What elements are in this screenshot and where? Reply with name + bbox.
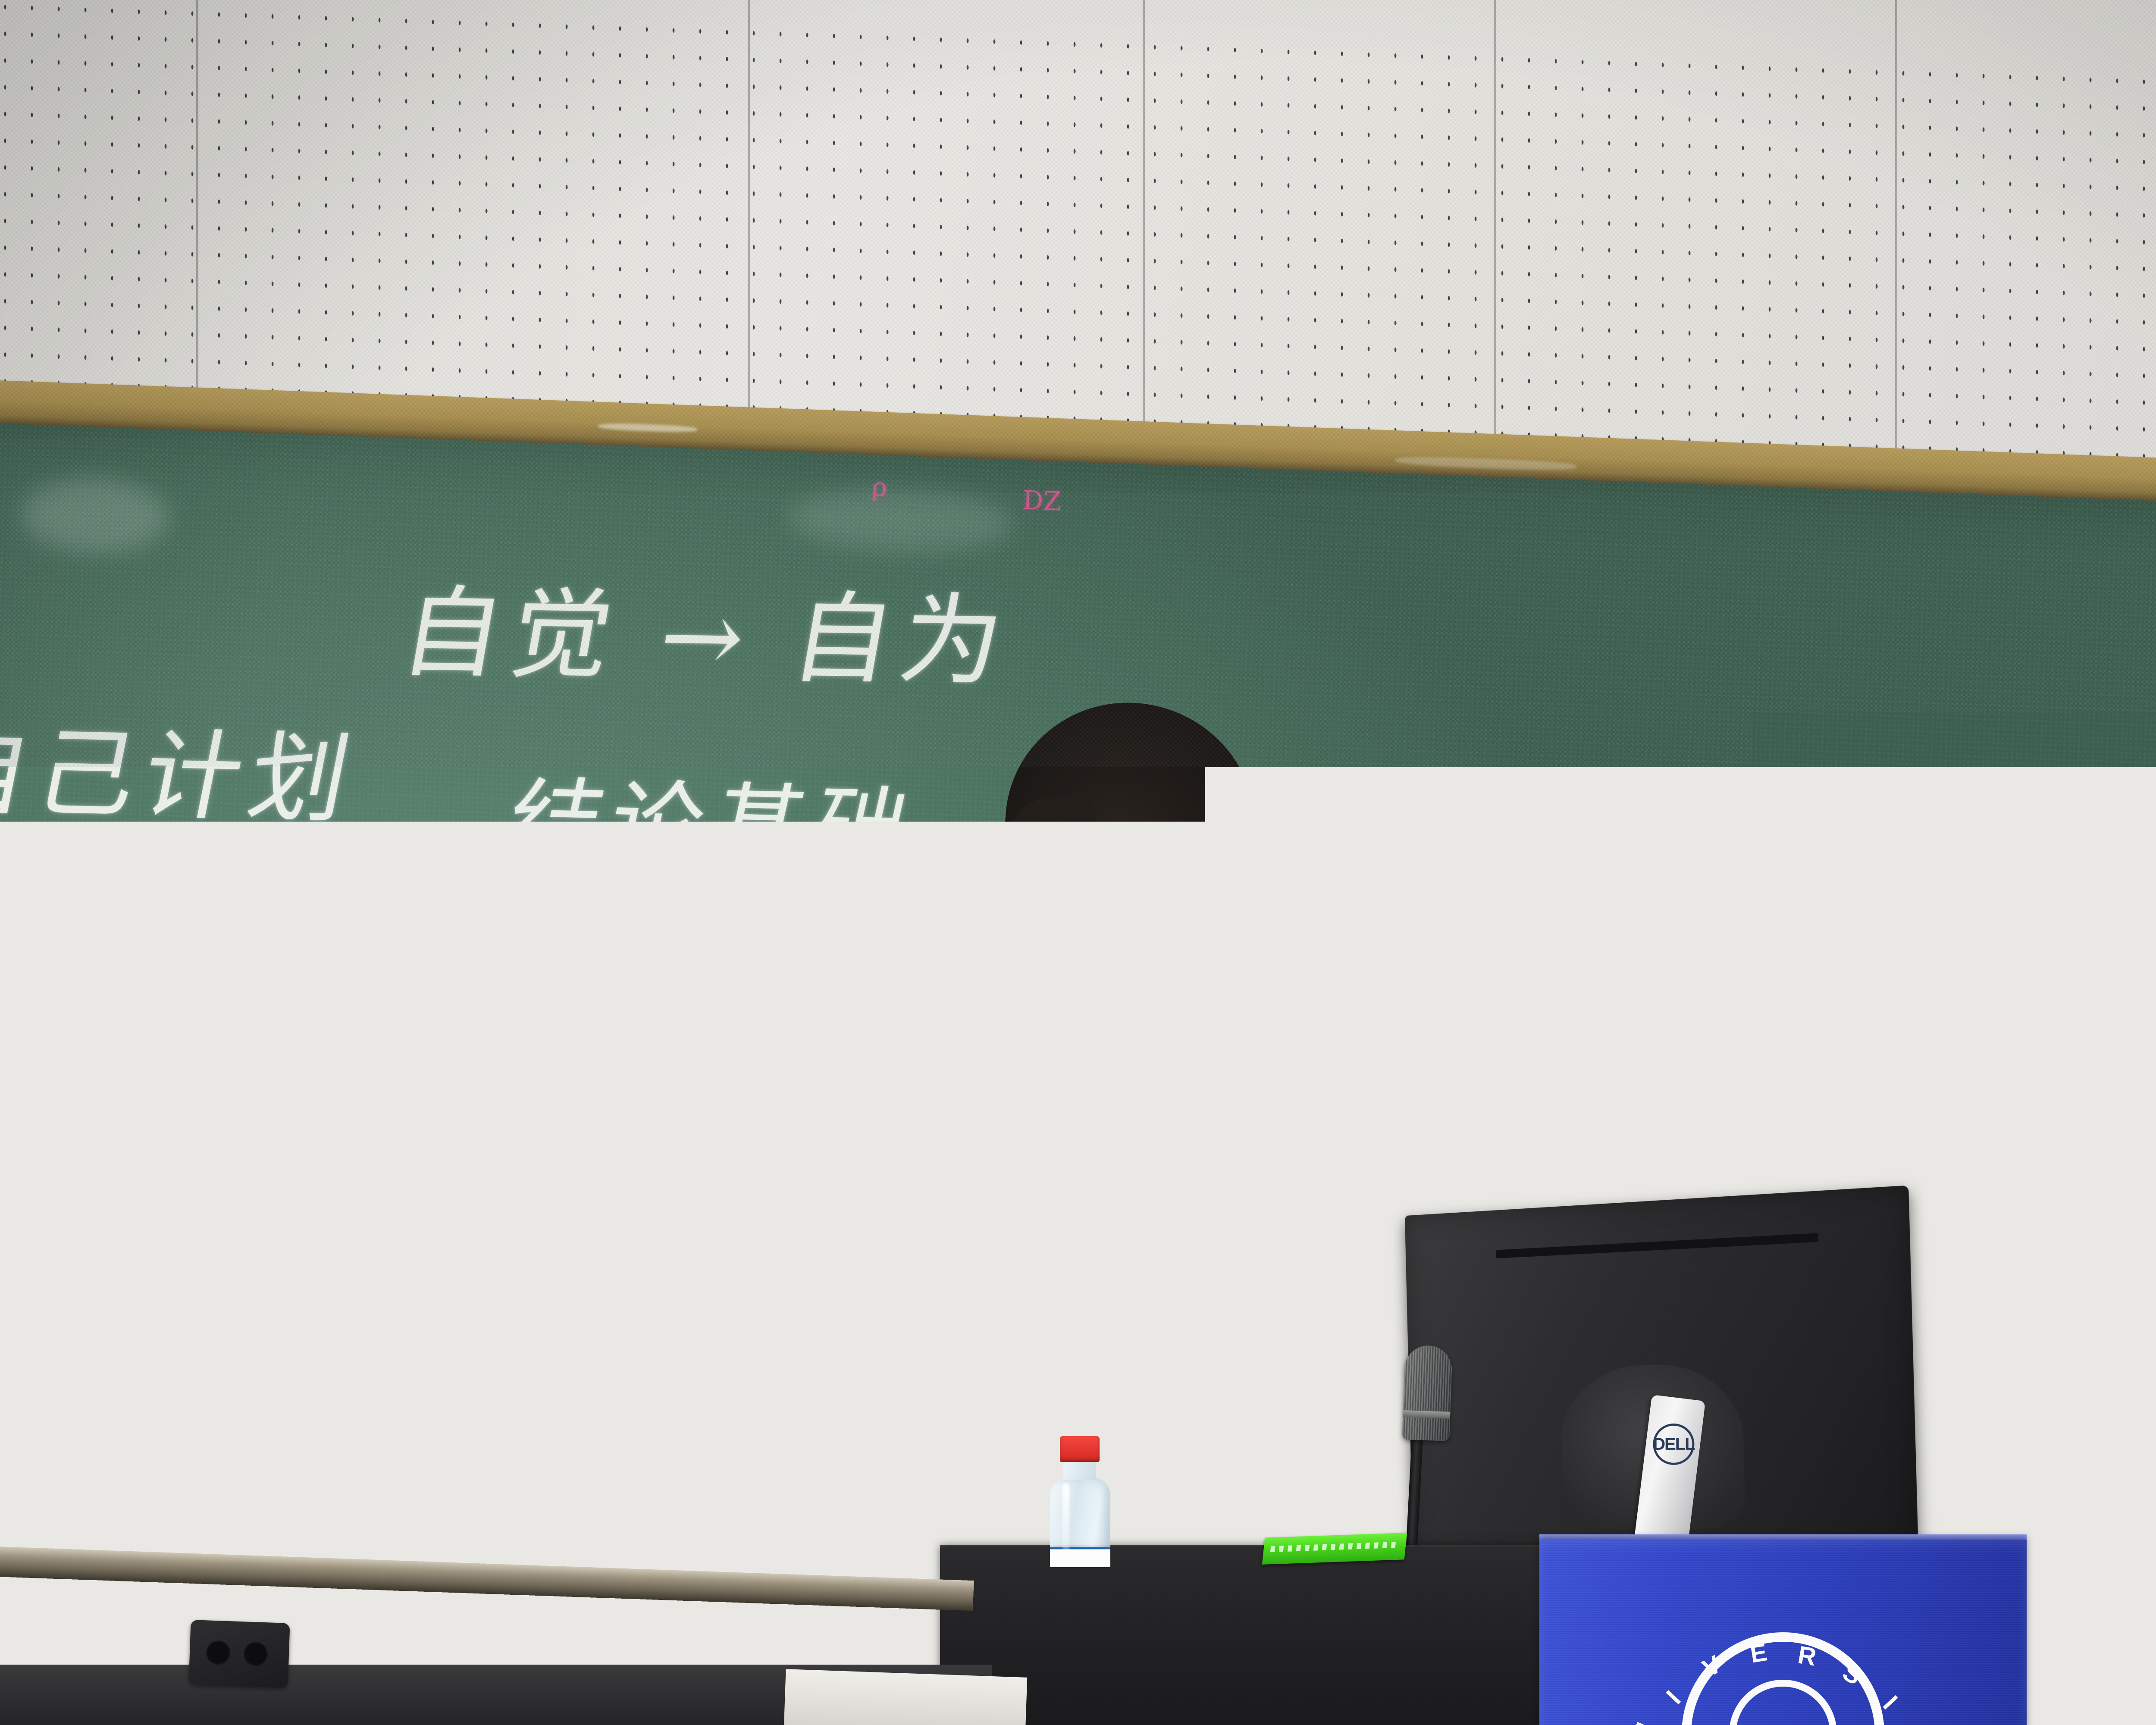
chalk-text-main: 自觉 → 自为 [392,553,1024,705]
lecture-hall-scene: 自己计划 自觉 → 自为 结论基础 ρ DZ 共青团 中国 是中国共 组织，是 … [0,0,2156,1725]
university-emblem-inner-ring [1729,1680,1837,1725]
vest-button [1172,1335,1190,1353]
vest-pocket-right [1305,1396,1416,1537]
water-bottle[interactable] [1048,1436,1112,1565]
dell-logo-icon: DELL [1653,1424,1694,1465]
pink-chalk-mark-1: ρ [871,472,888,503]
emblem-char: V [1698,1650,1726,1683]
wall-panel-seam [1895,0,1897,470]
shirt-button [1206,1356,1217,1367]
bottle-highlight [1062,1483,1069,1552]
bottle-cap [1060,1436,1100,1462]
vest-button [1169,1229,1188,1247]
emblem-char: E [1748,1637,1769,1669]
pink-chalk-mark-2: DZ [1022,485,1062,517]
emblem-char: I [1877,1690,1903,1715]
chalk-text-left: 自己计划 [0,692,372,841]
shirt-button [1202,1175,1213,1186]
vest-button [1175,1443,1193,1461]
shirt-button [1207,1449,1219,1460]
wall-outlet[interactable] [188,1620,290,1688]
white-equipment-box [784,1669,1028,1725]
emblem-char: I [1661,1685,1686,1709]
university-emblem-text: UNIVERSITY [1682,1632,1884,1725]
green-book[interactable] [1262,1533,1407,1565]
emblem-char: N [1626,1718,1659,1725]
chalk-text-lower: 结论基础 [496,746,930,890]
outlet-socket [206,1640,231,1665]
wall-panel-seam [748,0,750,470]
microphone-mesh-head [1402,1345,1453,1441]
emblem-char: S [1838,1658,1866,1691]
wall-panel-seam [1143,0,1145,470]
outlet-socket [243,1641,268,1666]
monitor-vent [1496,1233,1818,1258]
bottle-label [1050,1547,1110,1567]
podium-banner: UNIVERSITY [1539,1540,2027,1725]
emblem-char: R [1796,1640,1818,1672]
university-emblem-ring [1682,1632,1884,1725]
bottle-neck [1063,1460,1096,1480]
glasses-temple [1087,889,1194,900]
wall-panel-seam [1494,0,1496,470]
glasses-lens [1180,901,1291,987]
shirt-button [1204,1264,1215,1275]
